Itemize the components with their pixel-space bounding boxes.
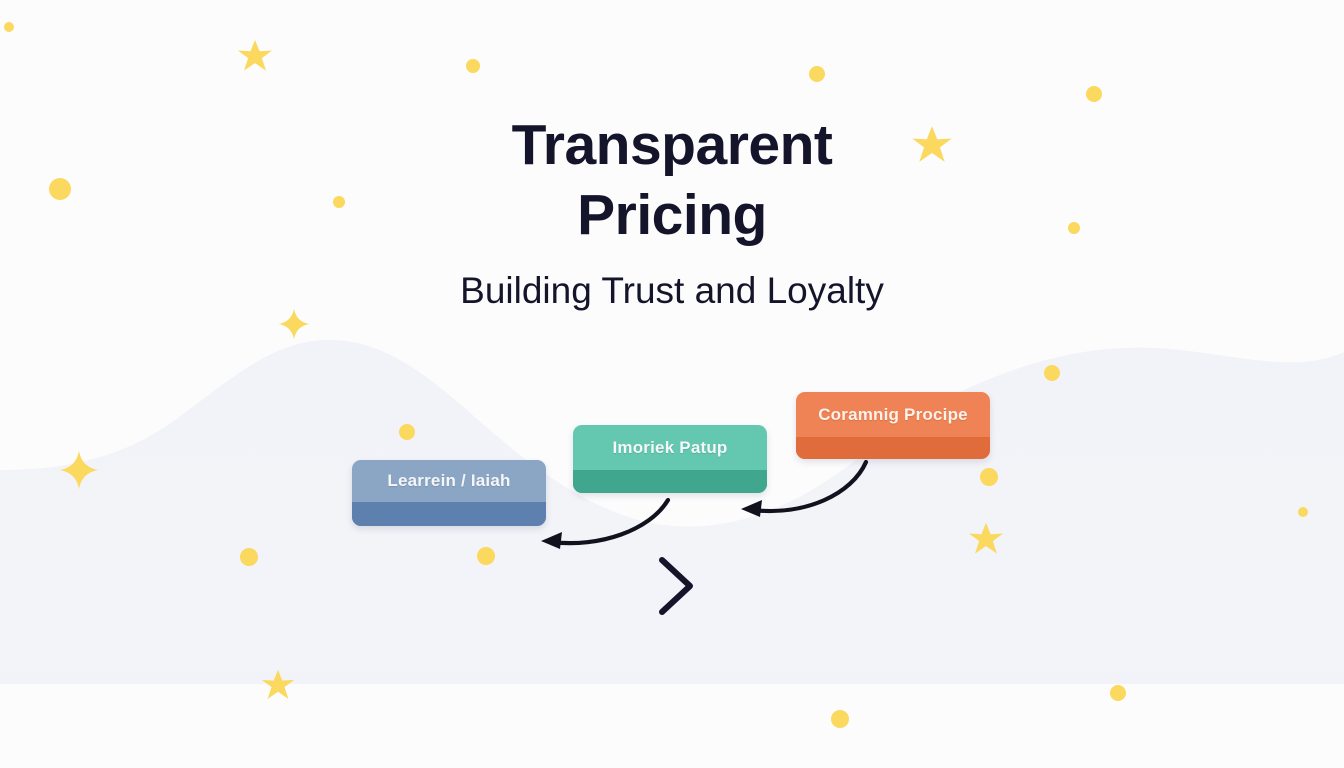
- connector-arrow-layer: [0, 0, 1344, 768]
- arrow-green-to-blue: [541, 500, 668, 549]
- flow-node-label: Coramnig Procipe: [818, 405, 968, 425]
- flow-node-green[interactable]: Imoriek Patup: [573, 425, 767, 493]
- node-base-green: [573, 470, 767, 493]
- slide-canvas: Transparent Pricing Building Trust and L…: [0, 0, 1344, 768]
- flow-node-label: Imoriek Patup: [612, 438, 727, 458]
- flow-node-orange[interactable]: Coramnig Procipe: [796, 392, 990, 459]
- node-base-orange: [796, 437, 990, 459]
- node-face-green: Imoriek Patup: [573, 425, 767, 470]
- chevron-right-icon[interactable]: [652, 552, 700, 620]
- flow-node-blue[interactable]: Learrein / Iaiah: [352, 460, 546, 526]
- node-face-orange: Coramnig Procipe: [796, 392, 990, 437]
- node-base-blue: [352, 502, 546, 526]
- node-face-blue: Learrein / Iaiah: [352, 460, 546, 502]
- flow-node-label: Learrein / Iaiah: [387, 471, 510, 491]
